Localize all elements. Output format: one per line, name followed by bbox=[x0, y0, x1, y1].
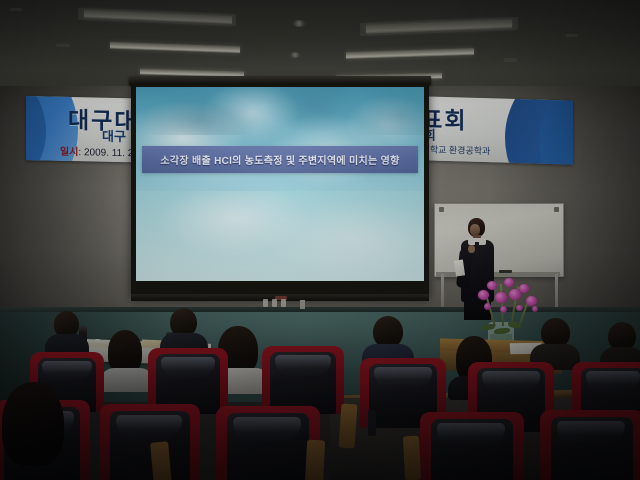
audience-member bbox=[100, 330, 154, 390]
seat-highlight bbox=[437, 423, 505, 447]
ceiling-downlight bbox=[289, 52, 301, 58]
banner-subtitle-left: 대구 bbox=[102, 126, 126, 146]
audience-member bbox=[530, 318, 580, 368]
wall-socket bbox=[281, 299, 286, 307]
seat-armrest bbox=[338, 403, 357, 448]
seat-highlight bbox=[586, 371, 640, 393]
projection-screen-frame: 소각장 배출 HCl의 농도측정 및 주변지역에 미치는 영향 bbox=[131, 83, 429, 296]
seat-highlight bbox=[233, 417, 301, 442]
orchid-bloom bbox=[478, 290, 489, 300]
orchid-bud bbox=[532, 306, 538, 312]
seat-highlight bbox=[275, 355, 331, 377]
whiteboard-clip bbox=[439, 207, 444, 212]
projection-screen-surface: 소각장 배출 HCl의 농도측정 및 주변지역에 미치는 영향 bbox=[136, 87, 424, 281]
orchid-bloom bbox=[526, 296, 537, 306]
audience-hair bbox=[2, 382, 64, 466]
ceiling-mark bbox=[566, 34, 578, 37]
auditorium-seat bbox=[540, 410, 640, 480]
orchid-bloom bbox=[519, 284, 529, 293]
seat-armrest bbox=[150, 441, 172, 480]
wall-outlet bbox=[300, 300, 305, 309]
orchid-bud bbox=[516, 305, 523, 311]
seat-highlight bbox=[482, 371, 540, 393]
ceiling-mark bbox=[56, 44, 70, 47]
audience-shoulders bbox=[100, 368, 154, 392]
whiteboard-clip bbox=[554, 207, 559, 212]
orchid-bud bbox=[484, 303, 491, 310]
wall-socket bbox=[272, 299, 277, 307]
seat-highlight bbox=[557, 421, 625, 445]
conference-photograph: 대구대 대구 일시: 2009. 11. 20(금 발표회 발표회 : 대구대학… bbox=[0, 0, 640, 480]
audience-member bbox=[2, 382, 78, 480]
auditorium-seat bbox=[420, 412, 524, 480]
wall-socket bbox=[263, 299, 268, 307]
ceiling-downlight bbox=[292, 20, 306, 27]
orchid-bloom bbox=[495, 292, 507, 303]
slide-title-bar: 소각장 배출 HCl의 농도측정 및 주변지역에 미치는 영향 bbox=[142, 146, 418, 173]
slide-lower-background bbox=[136, 191, 424, 281]
slide-title-text: 소각장 배출 HCl의 농도측정 및 주변지역에 미치는 영향 bbox=[142, 146, 418, 173]
presenter-necktie bbox=[475, 242, 479, 258]
seat-armrest-support bbox=[368, 410, 376, 436]
ceiling-mark bbox=[504, 58, 517, 62]
ceiling-mark bbox=[10, 8, 22, 11]
presenter-hand bbox=[468, 245, 475, 253]
seat-armrest bbox=[403, 436, 421, 480]
auditorium-seat bbox=[262, 346, 344, 414]
banner-date-label: 일시 bbox=[60, 147, 78, 158]
seat-highlight bbox=[116, 415, 182, 440]
seat-armrest bbox=[305, 440, 325, 480]
slide-cloud-shadow bbox=[136, 87, 424, 135]
audience-member bbox=[45, 311, 89, 355]
auditorium-seat bbox=[100, 404, 200, 480]
orchid-leaf bbox=[508, 322, 521, 328]
orchid-bloom bbox=[504, 278, 514, 287]
seat-highlight bbox=[42, 361, 92, 381]
orchid-bud bbox=[500, 306, 507, 313]
seat-highlight bbox=[161, 357, 215, 379]
orchid-bloom bbox=[487, 281, 497, 290]
seat-highlight bbox=[374, 367, 432, 389]
auditorium-seat bbox=[216, 406, 320, 480]
